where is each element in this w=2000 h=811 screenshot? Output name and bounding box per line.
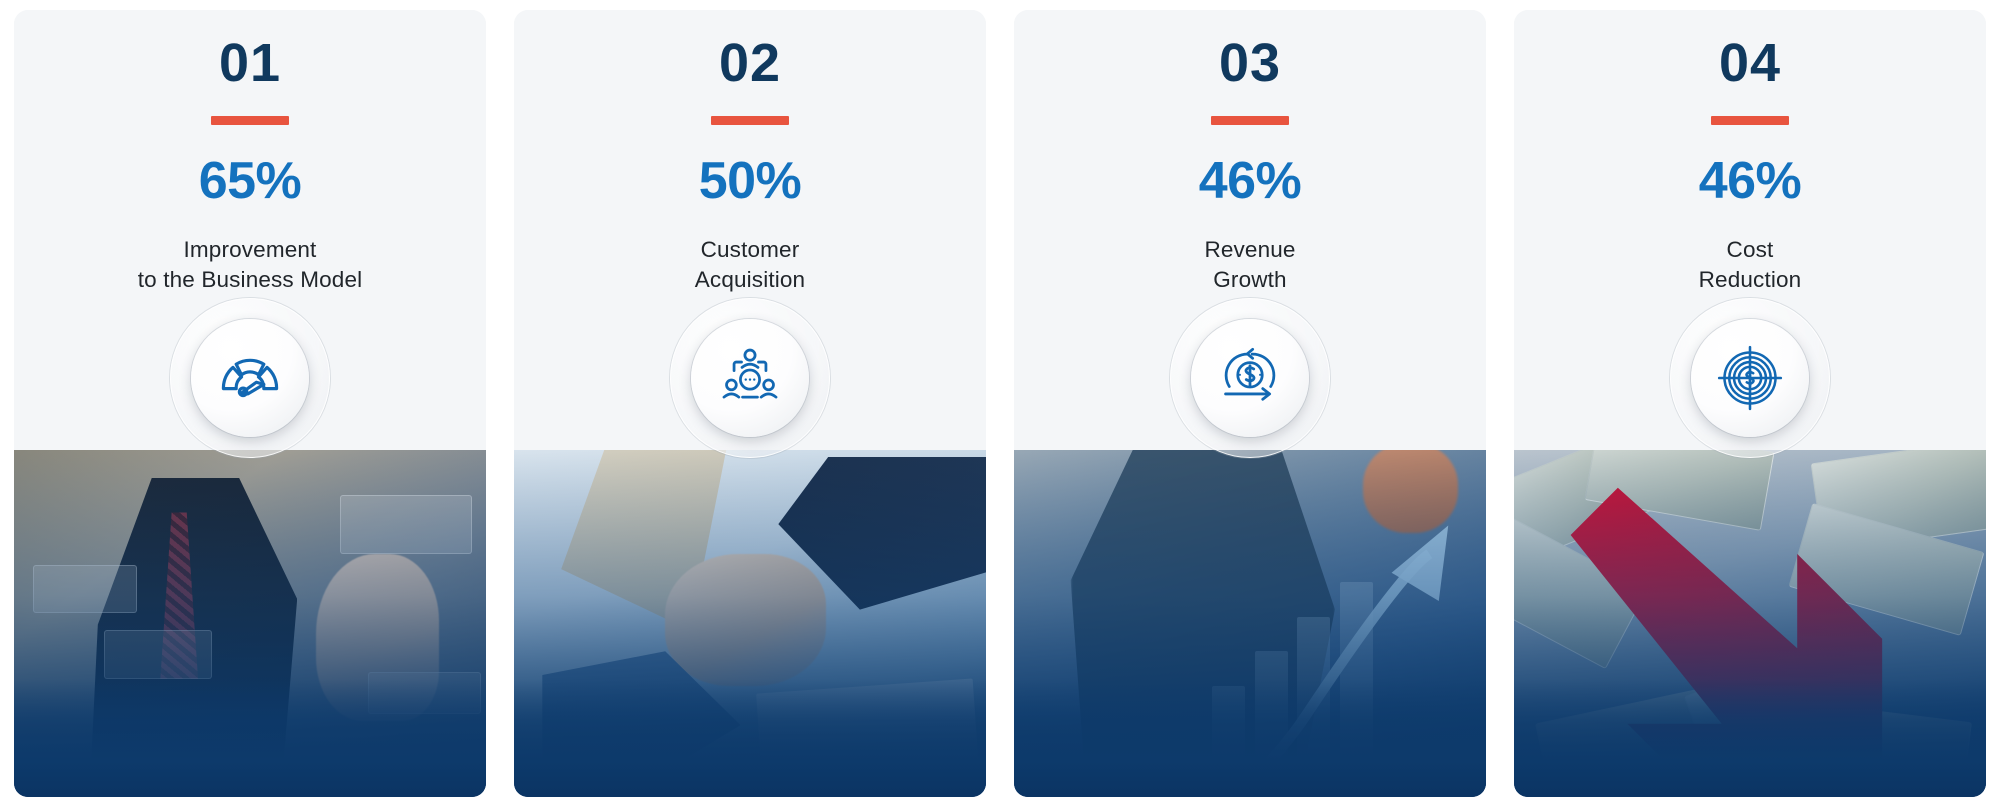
icon-medallion-inner <box>1191 319 1309 437</box>
photo-blue-overlay <box>14 450 486 797</box>
card-photo-section <box>1014 450 1486 797</box>
photo-blue-overlay <box>514 450 986 797</box>
icon-medallion[interactable] <box>1170 298 1330 458</box>
stat-value: 46% <box>1199 155 1302 207</box>
step-number: 04 <box>1719 36 1781 90</box>
step-number: 02 <box>719 36 781 90</box>
stat-card-04[interactable]: 04 46% Cost Reduction <box>1514 10 1986 797</box>
stat-label: Cost Reduction <box>1699 235 1802 296</box>
people-network-chat-icon <box>716 344 784 412</box>
icon-medallion[interactable] <box>670 298 830 458</box>
stat-value: 50% <box>699 155 802 207</box>
card-photo-section <box>1514 450 1986 797</box>
step-number: 03 <box>1219 36 1281 90</box>
stat-card-01[interactable]: 01 65% Improvement to the Business Model <box>14 10 486 797</box>
icon-medallion[interactable] <box>1670 298 1830 458</box>
accent-rule-divider <box>1711 116 1789 125</box>
icon-medallion[interactable] <box>170 298 330 458</box>
dollar-target-crosshair-icon <box>1716 344 1784 412</box>
icon-medallion-inner <box>191 319 309 437</box>
photo-blue-overlay <box>1514 450 1986 797</box>
icon-medallion-inner <box>1691 319 1809 437</box>
card-photo-section <box>14 450 486 797</box>
photo-blue-overlay <box>1014 450 1486 797</box>
icon-medallion-inner <box>691 319 809 437</box>
stats-card-board: 01 65% Improvement to the Business Model <box>0 0 2000 811</box>
stat-value: 46% <box>1699 155 1802 207</box>
accent-rule-divider <box>1211 116 1289 125</box>
speedometer-gauge-icon <box>216 344 284 412</box>
step-number: 01 <box>219 36 281 90</box>
stat-label: Improvement to the Business Model <box>138 235 363 296</box>
stat-label: Revenue Growth <box>1204 235 1295 296</box>
stat-card-02[interactable]: 02 50% Customer Acquisition <box>514 10 986 797</box>
stat-value: 65% <box>199 155 302 207</box>
accent-rule-divider <box>711 116 789 125</box>
accent-rule-divider <box>211 116 289 125</box>
card-photo-section <box>514 450 986 797</box>
dollar-circular-arrow-icon <box>1216 344 1284 412</box>
stat-card-03[interactable]: 03 46% Revenue Growth <box>1014 10 1486 797</box>
stat-label: Customer Acquisition <box>695 235 805 296</box>
